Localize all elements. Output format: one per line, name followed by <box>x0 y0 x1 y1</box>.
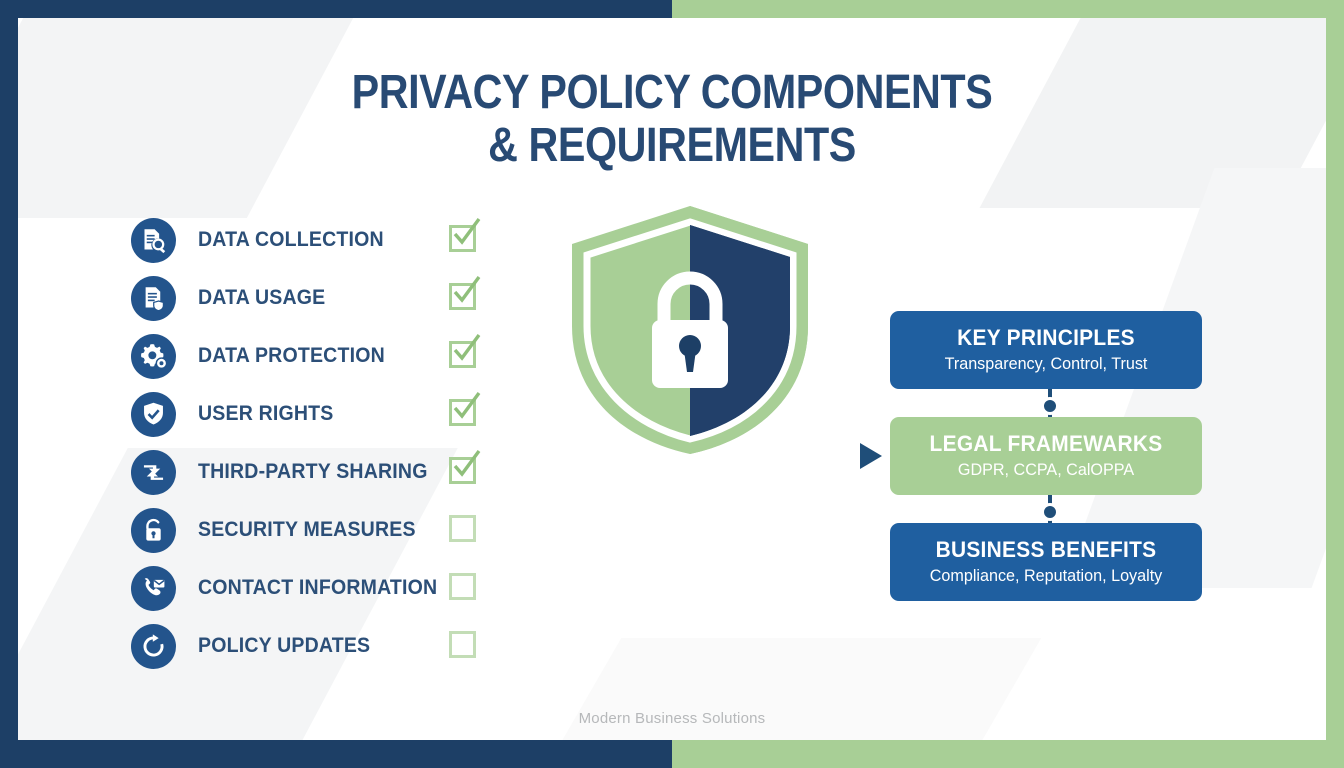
list-item[interactable]: USER RIGHTS <box>131 385 531 443</box>
list-item[interactable]: DATA PROTECTION <box>131 327 531 385</box>
list-item-label: USER RIGHTS <box>198 402 334 426</box>
list-item[interactable]: SECURITY MEASURES <box>131 501 531 559</box>
flow-card-subtitle: Compliance, Reputation, Loyalty <box>909 565 1183 586</box>
checklist: DATA COLLECTION DATA USAGE <box>131 211 531 675</box>
flow-card-subtitle: Transparency, Control, Trust <box>909 353 1183 374</box>
connector-dot <box>1041 397 1059 415</box>
flow-card-title: BUSINESS BENEFITS <box>909 537 1183 563</box>
flow-card-title: KEY PRINCIPLES <box>909 325 1183 351</box>
infographic-slide: PRIVACY POLICY COMPONENTS & REQUIREMENTS… <box>0 0 1344 768</box>
flow-card-subtitle: GDPR, CCPA, CalOPPA <box>909 459 1183 480</box>
padlock-icon <box>131 508 176 553</box>
checkbox-unchecked[interactable] <box>449 573 476 600</box>
list-item[interactable]: POLICY UPDATES <box>131 617 531 675</box>
document-search-icon <box>131 218 176 263</box>
flow-card-business-benefits[interactable]: BUSINESS BENEFITS Compliance, Reputation… <box>890 523 1202 601</box>
phone-envelope-icon <box>131 566 176 611</box>
list-item[interactable]: DATA COLLECTION <box>131 211 531 269</box>
flow-diagram: KEY PRINCIPLES Transparency, Control, Tr… <box>890 311 1210 601</box>
list-item-label: THIRD-PARTY SHARING <box>198 460 428 484</box>
list-item-label: SECURITY MEASURES <box>198 518 416 542</box>
refresh-arrow-icon <box>131 624 176 669</box>
flow-connector <box>890 495 1210 523</box>
list-item[interactable]: THIRD-PARTY SHARING <box>131 443 531 501</box>
list-item[interactable]: DATA USAGE <box>131 269 531 327</box>
shield-check-icon <box>131 392 176 437</box>
flow-card-legal-frameworks[interactable]: LEGAL FRAMEWARKS GDPR, CCPA, CalOPPA <box>890 417 1202 495</box>
title-line-1: PRIVACY POLICY COMPONENTS <box>352 66 993 119</box>
checkbox-checked[interactable] <box>449 225 476 252</box>
document-shield-icon <box>131 276 176 321</box>
list-item-label: DATA USAGE <box>198 286 325 310</box>
checkbox-checked[interactable] <box>449 457 476 484</box>
flow-card-title: LEGAL FRAMEWARKS <box>909 431 1183 457</box>
list-item-label: CONTACT INFORMATION <box>198 576 437 600</box>
title-line-2: & REQUIREMENTS <box>110 119 1235 172</box>
share-arrows-icon <box>131 450 176 495</box>
checkbox-checked[interactable] <box>449 341 476 368</box>
shield-padlock-icon <box>560 200 820 460</box>
checkbox-unchecked[interactable] <box>449 515 476 542</box>
page-title: PRIVACY POLICY COMPONENTS & REQUIREMENTS <box>110 66 1235 172</box>
content-panel: PRIVACY POLICY COMPONENTS & REQUIREMENTS… <box>18 18 1326 740</box>
list-item-label: POLICY UPDATES <box>198 634 370 658</box>
list-item-label: DATA PROTECTION <box>198 344 385 368</box>
footer-text: Modern Business Solutions <box>18 710 1326 727</box>
flow-connector <box>890 389 1210 417</box>
checkbox-checked[interactable] <box>449 283 476 310</box>
list-item[interactable]: CONTACT INFORMATION <box>131 559 531 617</box>
gear-settings-icon <box>131 334 176 379</box>
checkbox-checked[interactable] <box>449 399 476 426</box>
triangle-pointer-icon <box>860 443 882 469</box>
list-item-label: DATA COLLECTION <box>198 228 384 252</box>
checkbox-unchecked[interactable] <box>449 631 476 658</box>
flow-card-key-principles[interactable]: KEY PRINCIPLES Transparency, Control, Tr… <box>890 311 1202 389</box>
connector-dot <box>1041 503 1059 521</box>
